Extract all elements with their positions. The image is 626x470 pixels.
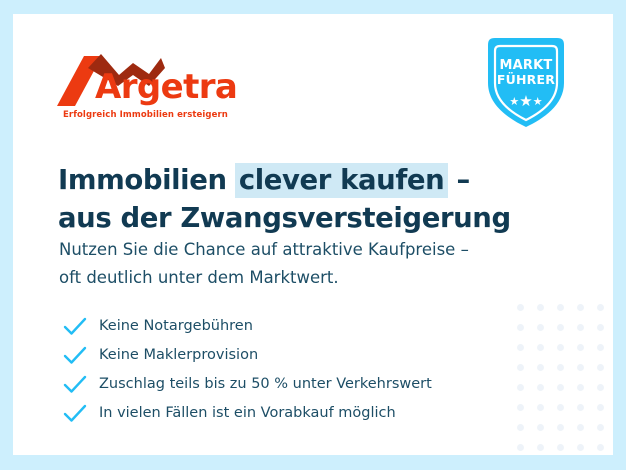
dot: [577, 364, 584, 371]
dot: [537, 364, 544, 371]
dot: [597, 364, 604, 371]
dot: [557, 384, 564, 391]
dot: [537, 304, 544, 311]
dot: [537, 344, 544, 351]
star-icon-left: ★: [509, 96, 519, 108]
check-icon: [63, 374, 89, 394]
dot: [537, 404, 544, 411]
dot: [537, 444, 544, 451]
dot: [557, 364, 564, 371]
list-item-label: Keine Notargebühren: [99, 316, 253, 336]
dot: [577, 324, 584, 331]
headline-line1-pre: Immobilien: [58, 164, 236, 196]
headline-line2: aus der Zwangsversteigerung: [58, 201, 528, 235]
list-item-label: In vielen Fällen ist ein Vorabkauf mögli…: [99, 403, 396, 423]
list-item-label: Keine Maklerprovision: [99, 345, 258, 365]
dot: [557, 404, 564, 411]
list-item: Keine Maklerprovision: [63, 340, 533, 369]
dot: [597, 424, 604, 431]
page-title: Immobilien clever kaufen – aus der Zwang…: [58, 163, 528, 235]
markt-fuehrer-badge: MARKT FÜHRER ★★★: [485, 37, 567, 129]
dot: [557, 444, 564, 451]
dot: [577, 424, 584, 431]
shield-icon: [485, 37, 567, 129]
dot: [577, 384, 584, 391]
dot: [577, 444, 584, 451]
dot: [597, 304, 604, 311]
check-icon: [63, 345, 89, 365]
dot: [537, 324, 544, 331]
list-item-label: Zuschlag teils bis zu 50 % unter Verkehr…: [99, 374, 432, 394]
dot: [537, 424, 544, 431]
dot: [557, 424, 564, 431]
dot: [597, 444, 604, 451]
star-icon-center: ★: [519, 93, 532, 110]
dot: [537, 384, 544, 391]
promo-card: Argetra Erfolgreich Immobilien ersteiger…: [13, 14, 613, 455]
headline-highlight: clever kaufen: [235, 163, 449, 198]
dot: [557, 324, 564, 331]
list-item: Keine Notargebühren: [63, 311, 533, 340]
page-subtitle: Nutzen Sie die Chance auf attraktive Kau…: [59, 236, 539, 292]
list-item: In vielen Fällen ist ein Vorabkauf mögli…: [63, 398, 533, 427]
logo-wordmark: Argetra: [95, 70, 237, 104]
dot: [597, 324, 604, 331]
dot: [577, 344, 584, 351]
dot: [557, 304, 564, 311]
badge-stars: ★★★: [485, 94, 567, 109]
dot: [597, 384, 604, 391]
list-item: Zuschlag teils bis zu 50 % unter Verkehr…: [63, 369, 533, 398]
dot: [597, 344, 604, 351]
dot: [597, 404, 604, 411]
subtitle-line-1: Nutzen Sie die Chance auf attraktive Kau…: [59, 236, 539, 264]
dot: [517, 304, 524, 311]
logo-tagline: Erfolgreich Immobilien ersteigern: [63, 110, 228, 120]
promo-banner-page: Argetra Erfolgreich Immobilien ersteiger…: [0, 0, 626, 470]
star-icon-right: ★: [533, 96, 543, 108]
dot: [557, 344, 564, 351]
check-icon: [63, 403, 89, 423]
dot: [577, 404, 584, 411]
benefits-checklist: Keine NotargebührenKeine Maklerprovision…: [63, 311, 533, 427]
check-icon: [63, 316, 89, 336]
argetra-logo[interactable]: Argetra Erfolgreich Immobilien ersteiger…: [57, 54, 257, 126]
dot: [517, 444, 524, 451]
dot: [577, 304, 584, 311]
subtitle-line-2: oft deutlich unter dem Marktwert.: [59, 264, 539, 292]
headline-line1-post: –: [447, 164, 470, 196]
